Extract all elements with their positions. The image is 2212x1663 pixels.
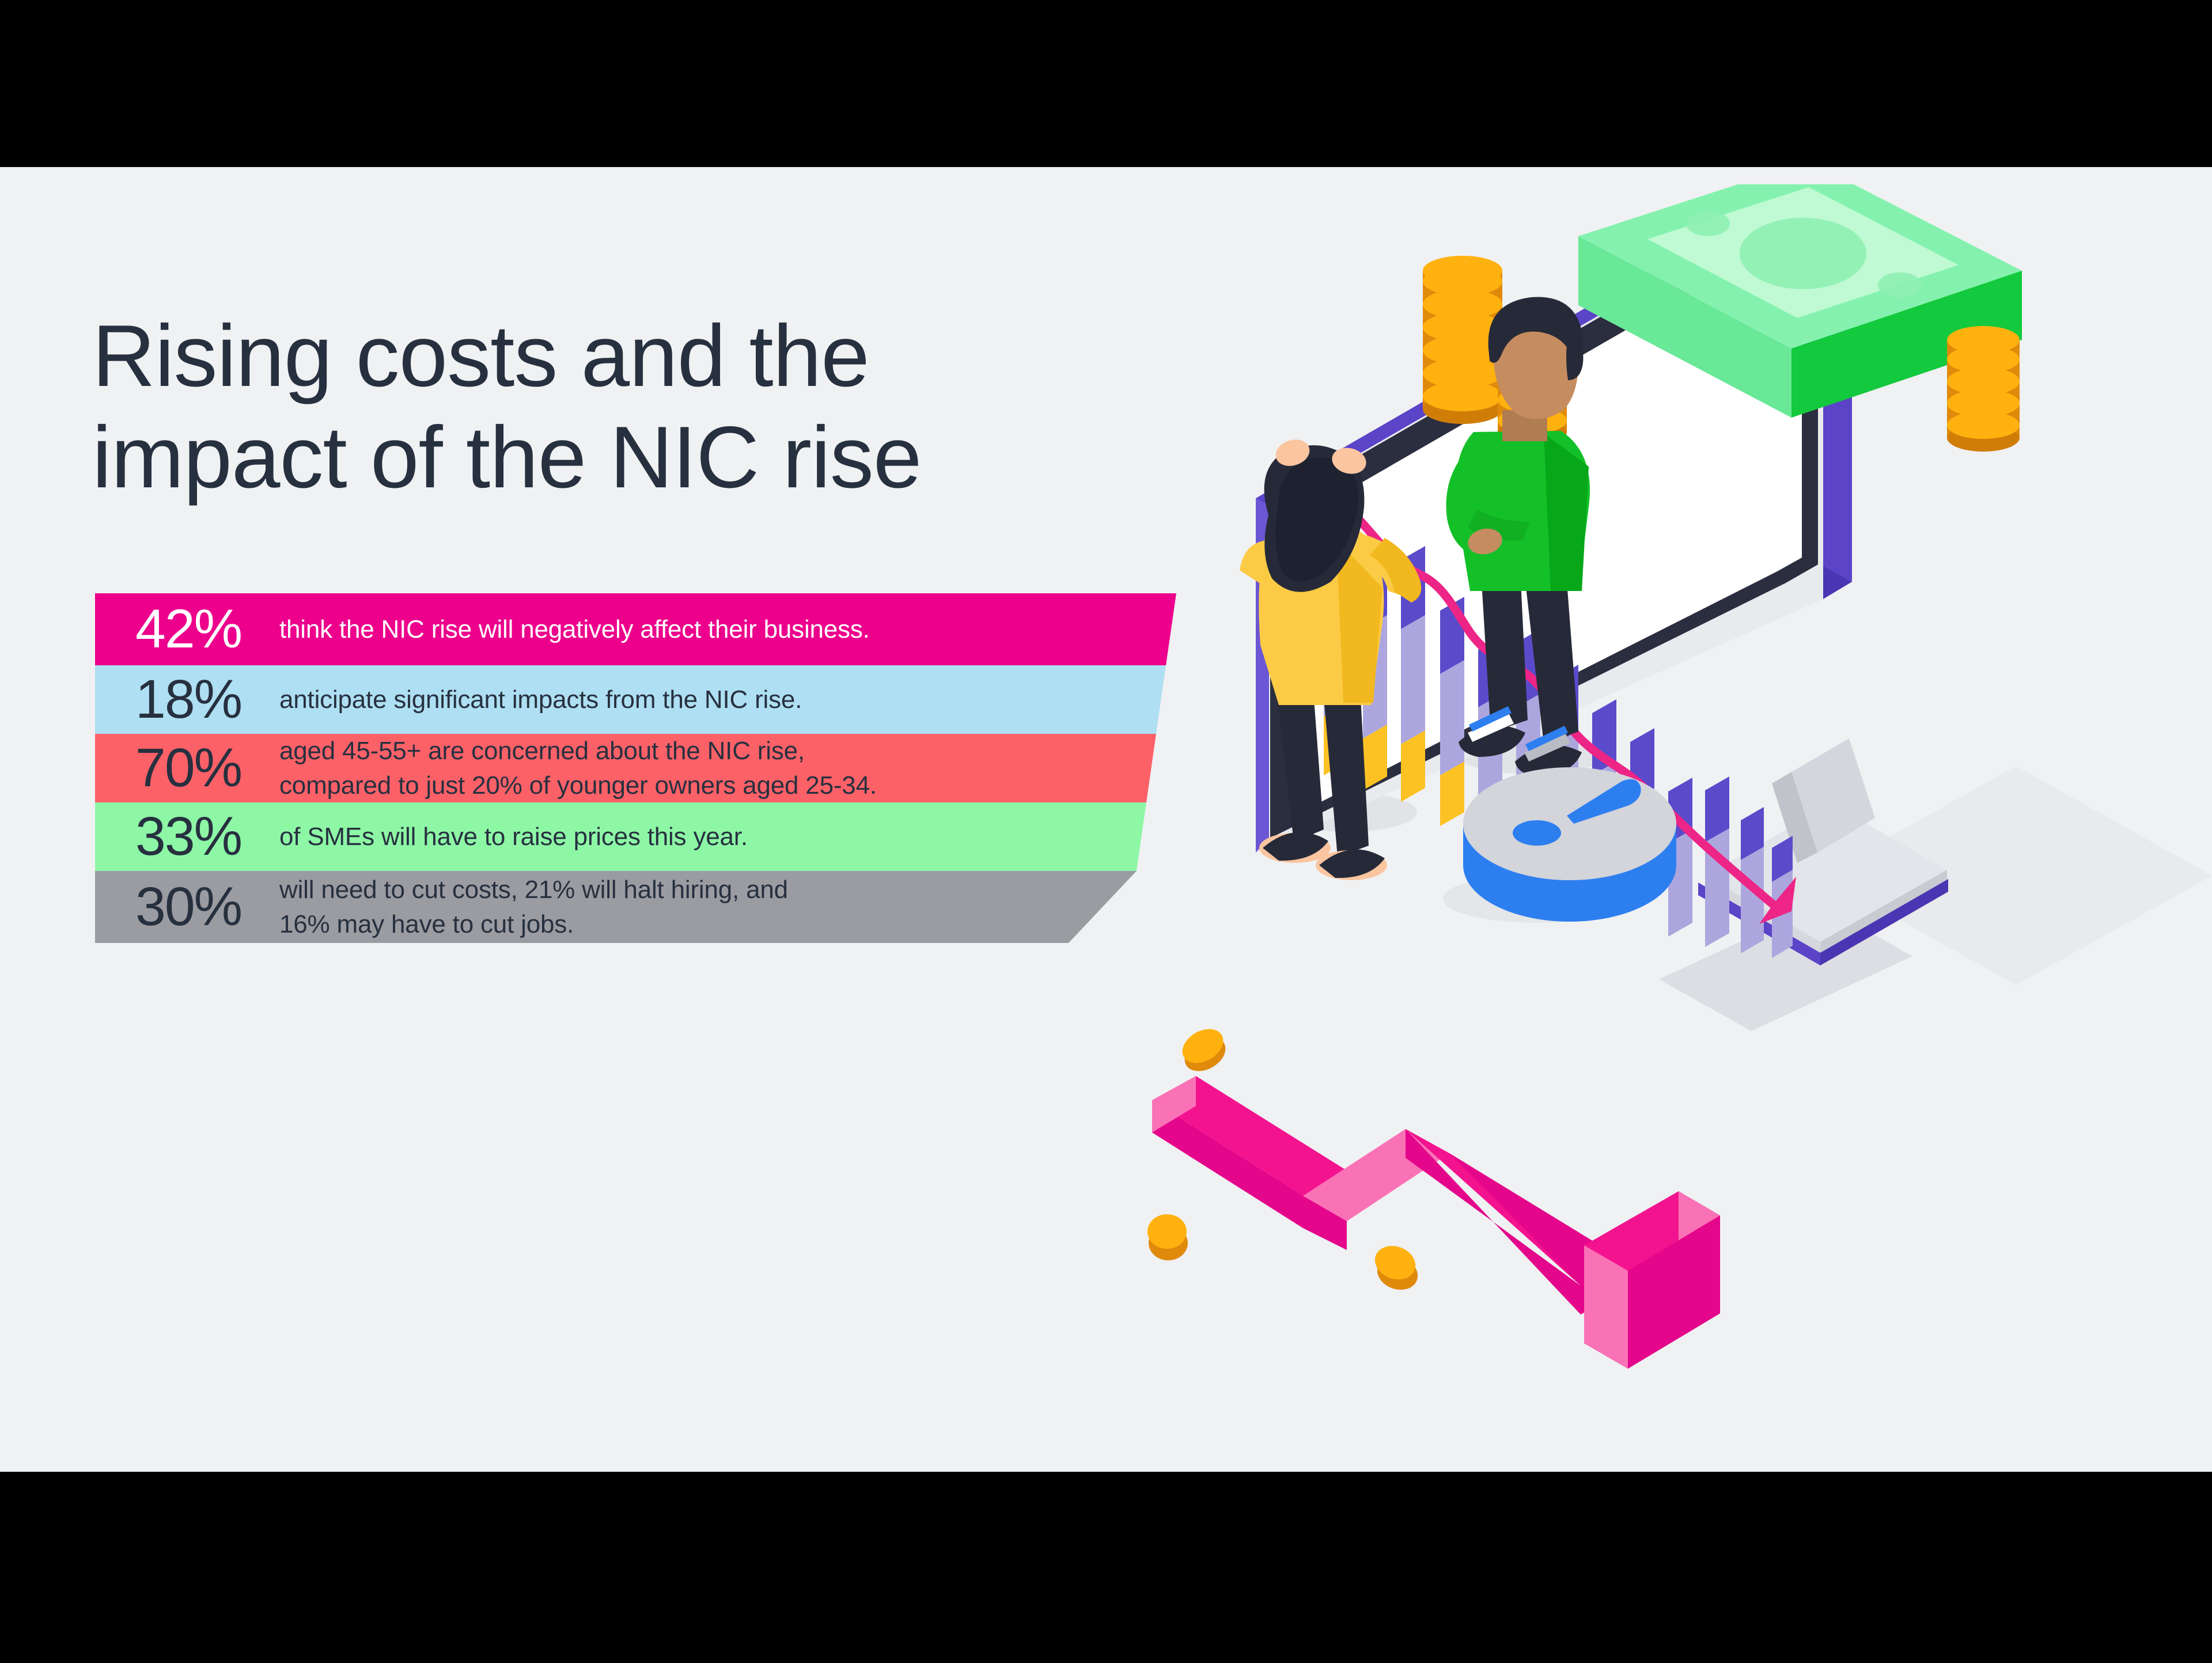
monitor-stand xyxy=(1698,738,1948,965)
stat-description-line-1: of SMEs will have to raise prices this y… xyxy=(279,820,748,854)
stat-description: of SMEs will have to raise prices this y… xyxy=(279,820,748,854)
stat-percent: 30% xyxy=(135,880,279,934)
stat-description: aged 45-55+ are concerned about the NIC … xyxy=(279,734,877,803)
stat-description-line-1: will need to cut costs, 21% will halt hi… xyxy=(279,873,788,907)
letterbox-bottom-bar xyxy=(0,1472,2212,1663)
coin-stack-right xyxy=(1947,326,2020,452)
stat-description-line-1: think the NIC rise will negatively affec… xyxy=(279,612,870,647)
stat-description: anticipate significant impacts from the … xyxy=(279,683,802,717)
chart-bar xyxy=(1440,597,1464,826)
down-arrow xyxy=(1152,1076,1720,1369)
stat-row[interactable]: 18% anticipate significant impacts from … xyxy=(95,665,1190,734)
stat-description-line-2: 16% may have to cut jobs. xyxy=(279,907,788,942)
letterbox-top-bar xyxy=(0,0,2212,167)
page-title: Rising costs and the impact of the NIC r… xyxy=(92,305,1071,509)
isometric-illustration xyxy=(1141,184,2212,1423)
slide-canvas: Rising costs and the impact of the NIC r… xyxy=(0,167,2212,1472)
stat-description-line-1: aged 45-55+ are concerned about the NIC … xyxy=(279,734,877,768)
statistics-funnel: 42% think the NIC rise will negatively a… xyxy=(95,593,1190,916)
stat-row[interactable]: 30% will need to cut costs, 21% will hal… xyxy=(95,871,1190,943)
stat-description-line-1: anticipate significant impacts from the … xyxy=(279,683,802,717)
stat-percent: 70% xyxy=(135,741,279,795)
stat-row[interactable]: 42% think the NIC rise will negatively a… xyxy=(95,593,1190,665)
coin xyxy=(1176,1022,1232,1078)
stat-row[interactable]: 70% aged 45-55+ are concerned about the … xyxy=(95,734,1190,802)
page-title-line-2: impact of the NIC rise xyxy=(92,407,1071,508)
coin xyxy=(1370,1240,1423,1295)
alert-disc xyxy=(1463,767,1676,922)
illustration-svg xyxy=(1141,184,2212,1423)
stat-description-line-2: compared to just 20% of younger owners a… xyxy=(279,768,877,803)
stat-description: will need to cut costs, 21% will halt hi… xyxy=(279,873,788,942)
stat-percent: 18% xyxy=(135,672,279,727)
stat-row[interactable]: 33% of SMEs will have to raise prices th… xyxy=(95,802,1190,871)
stat-percent: 33% xyxy=(135,809,279,864)
stat-percent: 42% xyxy=(135,602,279,657)
coin xyxy=(1147,1214,1188,1260)
page-title-line-1: Rising costs and the xyxy=(92,305,1071,407)
stat-description: think the NIC rise will negatively affec… xyxy=(279,612,870,647)
